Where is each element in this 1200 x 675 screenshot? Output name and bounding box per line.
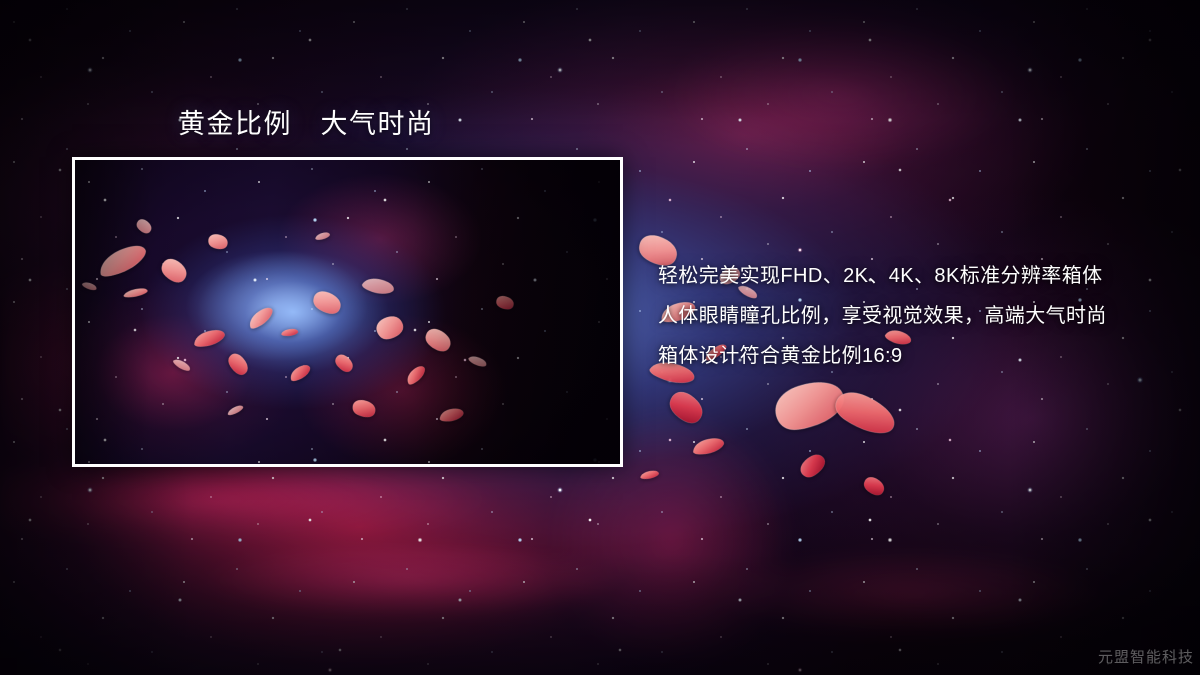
panel-vignette bbox=[75, 160, 620, 464]
framed-image-panel bbox=[72, 157, 623, 467]
body-line-2: 人体眼睛瞳孔比例，享受视觉效果，高端大气时尚 bbox=[658, 296, 1158, 336]
flower-petal bbox=[662, 384, 711, 431]
panel-photo bbox=[75, 160, 620, 464]
flower-petal bbox=[690, 434, 728, 463]
body-line-1: 轻松完美实现FHD、2K、4K、8K标准分辨率箱体 bbox=[658, 256, 1158, 296]
body-line-3: 箱体设计符合黄金比例16:9 bbox=[658, 336, 1158, 376]
flower-petal bbox=[639, 468, 661, 485]
body-text-block: 轻松完美实现FHD、2K、4K、8K标准分辨率箱体 人体眼睛瞳孔比例，享受视觉效… bbox=[658, 256, 1158, 376]
flower-petal bbox=[767, 372, 852, 439]
flower-petal bbox=[859, 473, 888, 501]
page-title: 黄金比例 大气时尚 bbox=[178, 102, 435, 141]
flower-petal bbox=[795, 449, 831, 484]
flower-petal bbox=[828, 383, 902, 442]
watermark-label: 元盟智能科技 bbox=[1098, 646, 1194, 667]
slide-canvas: 黄金比例 大气时尚 轻松完美实现FHD、2K、4K、8K标准分辨率箱体 人体眼睛… bbox=[0, 0, 1200, 675]
